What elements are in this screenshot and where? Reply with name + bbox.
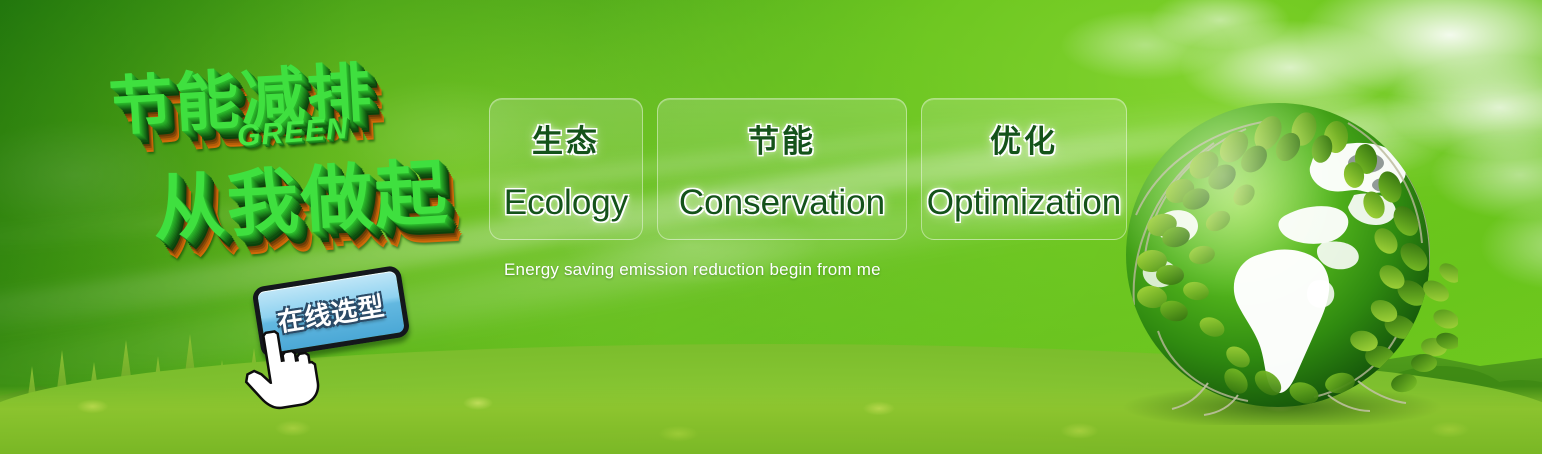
headline-line-2: 从我做起 [150, 133, 451, 254]
feature-box-ecology-en: Ecology [504, 183, 629, 223]
feature-box-conservation-cn: 节能 [748, 116, 816, 161]
ivy-globe [1118, 95, 1458, 425]
feature-box-optimization-cn: 优化 [990, 116, 1058, 161]
online-selection-button-label: 在线选型 [275, 285, 387, 338]
feature-box-ecology[interactable]: 生态 Ecology [489, 98, 643, 240]
headline-3d: 节能减排 GREEN 从我做起 [86, 27, 498, 279]
feature-box-ecology-cn: 生态 [532, 116, 600, 161]
feature-box-conservation[interactable]: 节能 Conservation [657, 98, 907, 240]
feature-box-optimization-en: Optimization [927, 183, 1122, 223]
feature-box-optimization[interactable]: 优化 Optimization [921, 98, 1127, 240]
tagline-text: Energy saving emission reduction begin f… [504, 260, 881, 280]
feature-box-row: 生态 Ecology 节能 Conservation 优化 Optimizati… [489, 98, 1127, 240]
green-energy-banner: 节能减排 GREEN 从我做起 在线选型 生态 Ecology 节能 Conse… [0, 0, 1542, 454]
feature-box-conservation-en: Conservation [679, 183, 885, 223]
